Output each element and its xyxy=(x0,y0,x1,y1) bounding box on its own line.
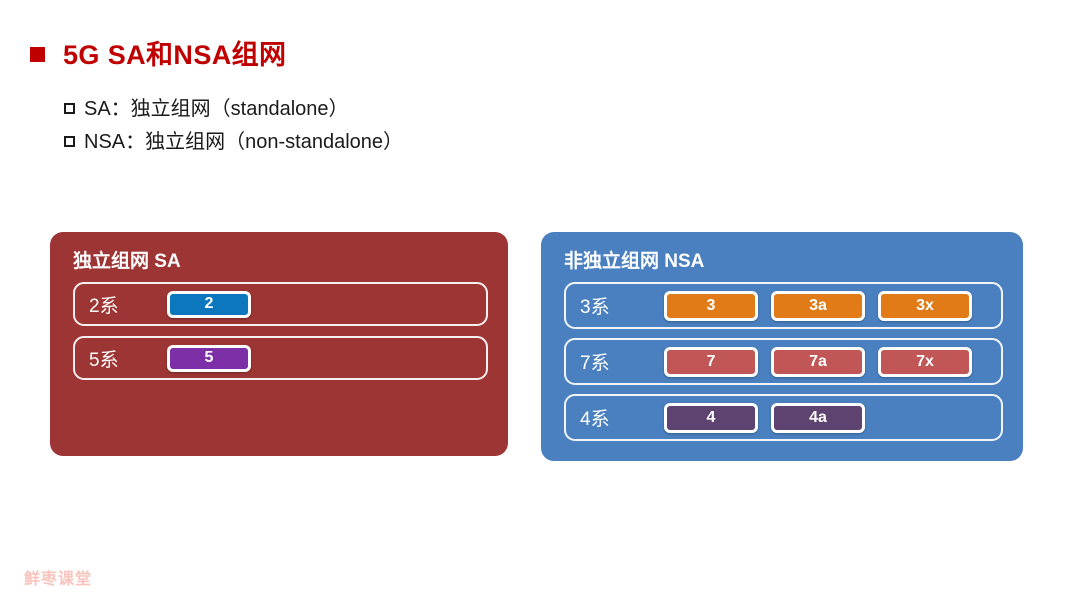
table-row: 5系 5 xyxy=(73,336,488,380)
panel-nsa-title: 非独立组网 NSA xyxy=(564,246,704,273)
panel-sa-title: 独立组网 SA xyxy=(73,246,181,273)
row-label: 3系 xyxy=(580,292,664,319)
chip-group: 5 xyxy=(167,345,251,372)
row-label: 4系 xyxy=(580,404,664,431)
table-row: 7系 7 7a 7x xyxy=(564,338,1003,385)
chip-group: 7 7a 7x xyxy=(664,347,972,377)
chip-group: 4 4a xyxy=(664,403,865,433)
chip-group: 2 xyxy=(167,291,251,318)
list-item: NSA：独立组网（non-standalone） xyxy=(64,126,403,159)
list-item-label: NSA：独立组网（non-standalone） xyxy=(84,126,403,159)
option-chip[interactable]: 3 xyxy=(664,291,758,321)
page-title: 5G SA和NSA组网 xyxy=(30,33,286,72)
option-chip[interactable]: 4a xyxy=(771,403,865,433)
slide-canvas: 5G SA和NSA组网 SA：独立组网（standalone） NSA：独立组网… xyxy=(0,0,1080,608)
table-row: 4系 4 4a xyxy=(564,394,1003,441)
page-title-text: 5G SA和NSA组网 xyxy=(63,33,286,72)
list-item-label: SA：独立组网（standalone） xyxy=(84,93,349,126)
option-chip[interactable]: 5 xyxy=(167,345,251,372)
list-item: SA：独立组网（standalone） xyxy=(64,93,403,126)
panel-sa: 独立组网 SA 2系 2 5系 5 xyxy=(50,232,508,456)
panel-nsa: 非独立组网 NSA 3系 3 3a 3x 7系 7 7a 7x 4系 xyxy=(541,232,1023,461)
row-label: 5系 xyxy=(89,345,167,372)
option-chip[interactable]: 7x xyxy=(878,347,972,377)
panel-sa-rows: 2系 2 5系 5 xyxy=(73,282,488,390)
table-row: 2系 2 xyxy=(73,282,488,326)
hollow-square-bullet-icon xyxy=(64,103,75,114)
hollow-square-bullet-icon xyxy=(64,136,75,147)
chip-group: 3 3a 3x xyxy=(664,291,972,321)
row-label: 2系 xyxy=(89,291,167,318)
option-chip[interactable]: 3a xyxy=(771,291,865,321)
option-chip[interactable]: 2 xyxy=(167,291,251,318)
option-chip[interactable]: 7a xyxy=(771,347,865,377)
bullet-list: SA：独立组网（standalone） NSA：独立组网（non-standal… xyxy=(64,93,403,159)
option-chip[interactable]: 7 xyxy=(664,347,758,377)
filled-square-bullet-icon xyxy=(30,47,45,62)
footer-watermark: 鲜枣课堂 xyxy=(24,565,92,589)
table-row: 3系 3 3a 3x xyxy=(564,282,1003,329)
panel-nsa-rows: 3系 3 3a 3x 7系 7 7a 7x 4系 4 4a xyxy=(564,282,1003,450)
row-label: 7系 xyxy=(580,348,664,375)
option-chip[interactable]: 3x xyxy=(878,291,972,321)
option-chip[interactable]: 4 xyxy=(664,403,758,433)
